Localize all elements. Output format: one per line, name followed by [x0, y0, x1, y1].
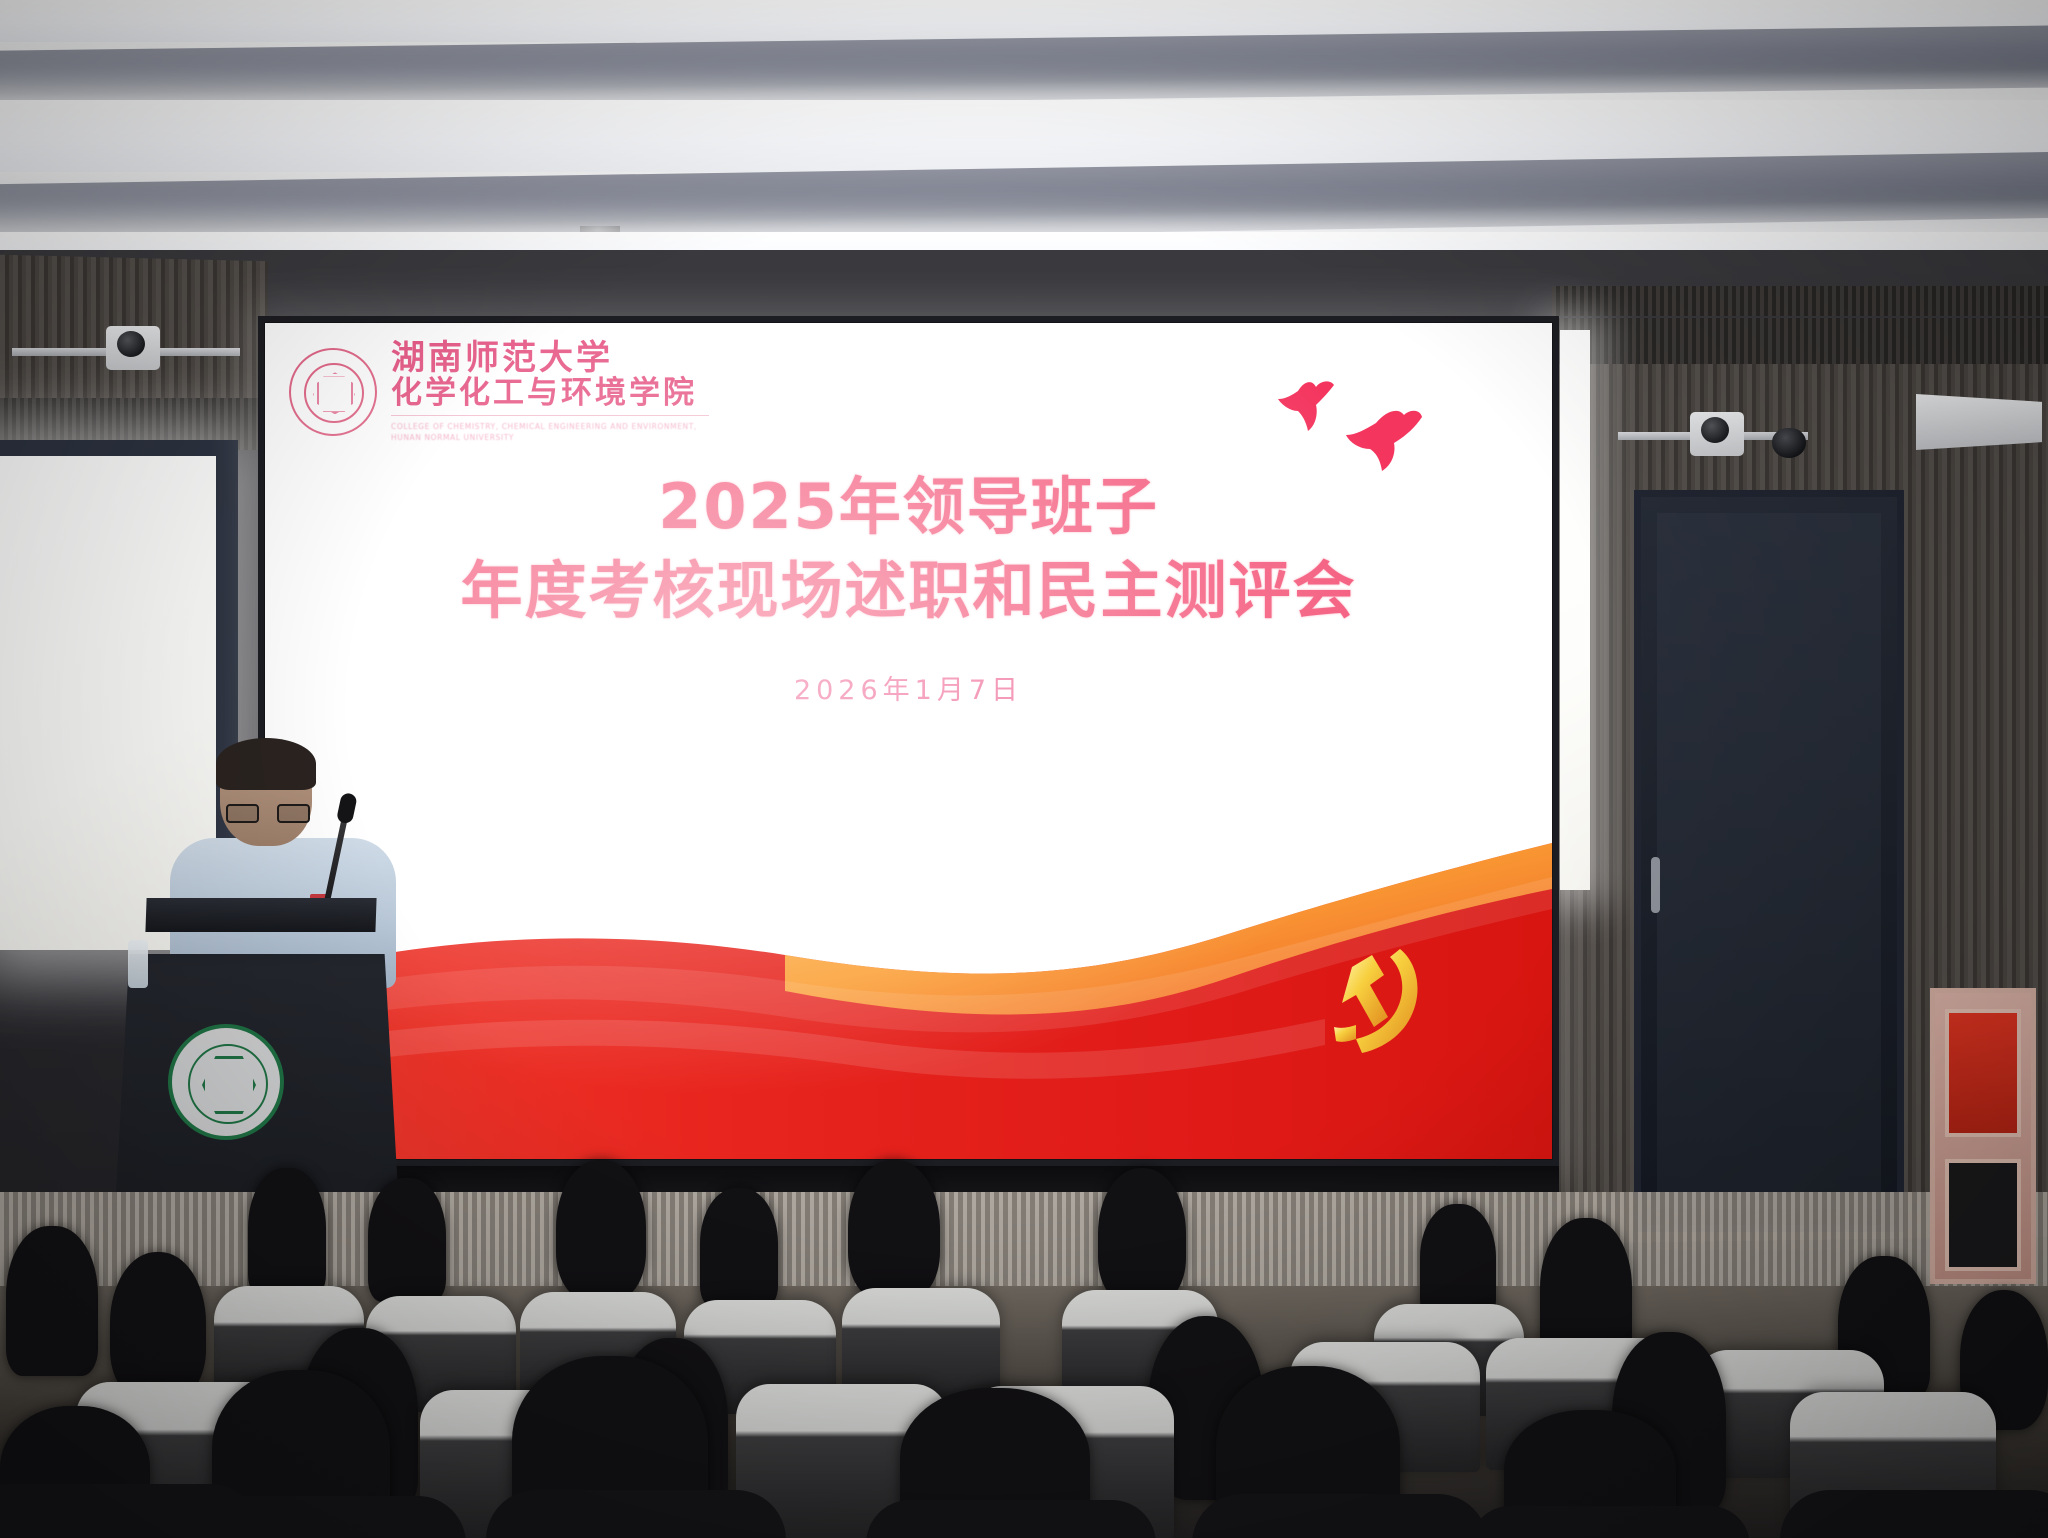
- cabinet-red-pane: [1945, 1009, 2021, 1137]
- sickle-handle: [1334, 1025, 1356, 1042]
- dove-2-shape: [1346, 411, 1422, 471]
- red-flag-graphic: [265, 829, 1552, 1159]
- slide-date: 2026年1月7日: [265, 668, 1552, 707]
- water-bottle: [128, 940, 148, 988]
- hammer-shape: [1342, 955, 1388, 1027]
- audience-shoulders: [486, 1490, 786, 1538]
- slide-title: 2025年领导班子 年度考核现场述职和民主测评会: [265, 465, 1552, 632]
- podium-university-seal-icon: [168, 1024, 284, 1140]
- audience-head: [1098, 1168, 1186, 1304]
- window-header-left: [0, 440, 238, 456]
- dove-1-shape: [1278, 381, 1334, 431]
- audience-shoulders: [1780, 1490, 2048, 1538]
- presenter-hair: [216, 738, 316, 790]
- podium-desktop: [145, 898, 376, 932]
- ceiling: [0, 0, 2048, 272]
- logo-university-name: 湖南师范大学: [391, 341, 721, 375]
- audience-head: [368, 1178, 446, 1302]
- hammer-sickle-shape: [1326, 943, 1434, 1063]
- audience-head: [6, 1226, 98, 1376]
- audience-head: [1420, 1204, 1496, 1320]
- window-right: [1560, 330, 1590, 890]
- logo-english-name: COLLEGE OF CHEMISTRY, CHEMICAL ENGINEERI…: [391, 422, 721, 444]
- wall-band-right: [1552, 286, 2048, 316]
- presentation-slide: 湖南师范大学 化学化工与环境学院 COLLEGE OF CHEMISTRY, C…: [265, 323, 1552, 1159]
- ptz-camera-left-icon: [106, 326, 160, 370]
- wall-speaker-icon: [1916, 394, 2042, 450]
- audience-head: [848, 1160, 940, 1300]
- seal-hexagon-icon: [313, 376, 355, 412]
- logo-text-block: 湖南师范大学 化学化工与环境学院 COLLEGE OF CHEMISTRY, C…: [391, 341, 721, 444]
- wall-header-right: [1552, 318, 2048, 364]
- glasses-icon: [226, 804, 310, 824]
- university-seal-icon: [289, 348, 377, 436]
- audience-head: [248, 1168, 326, 1298]
- door[interactable]: [1634, 490, 1904, 1232]
- projection-screen: 湖南师范大学 化学化工与环境学院 COLLEGE OF CHEMISTRY, C…: [258, 316, 1559, 1166]
- audience-head: [556, 1160, 646, 1300]
- slide-title-line-2: 年度考核现场述职和民主测评会: [265, 549, 1552, 633]
- slide-logo: 湖南师范大学 化学化工与环境学院 COLLEGE OF CHEMISTRY, C…: [289, 341, 721, 444]
- door-handle-icon[interactable]: [1651, 857, 1660, 913]
- logo-divider: [391, 415, 709, 416]
- audience-head: [110, 1252, 206, 1400]
- conference-hall-scene: 湖南师范大学 化学化工与环境学院 COLLEGE OF CHEMISTRY, C…: [0, 0, 2048, 1538]
- ptz-camera-right-icon: [1690, 412, 1744, 456]
- cpc-emblem-icon: [1326, 943, 1434, 1063]
- dome-camera-icon: [1772, 428, 1806, 458]
- audience-shoulders: [1192, 1494, 1488, 1538]
- door-panel: [1657, 513, 1881, 1209]
- slide-title-line-1: 2025年领导班子: [265, 465, 1552, 549]
- audience-shoulders: [1470, 1506, 1750, 1538]
- audience-head: [700, 1188, 778, 1308]
- audience-shoulders: [866, 1500, 1156, 1538]
- audience-shoulders: [176, 1496, 466, 1538]
- logo-college-name: 化学化工与环境学院: [391, 378, 721, 409]
- audience: [0, 1160, 2048, 1538]
